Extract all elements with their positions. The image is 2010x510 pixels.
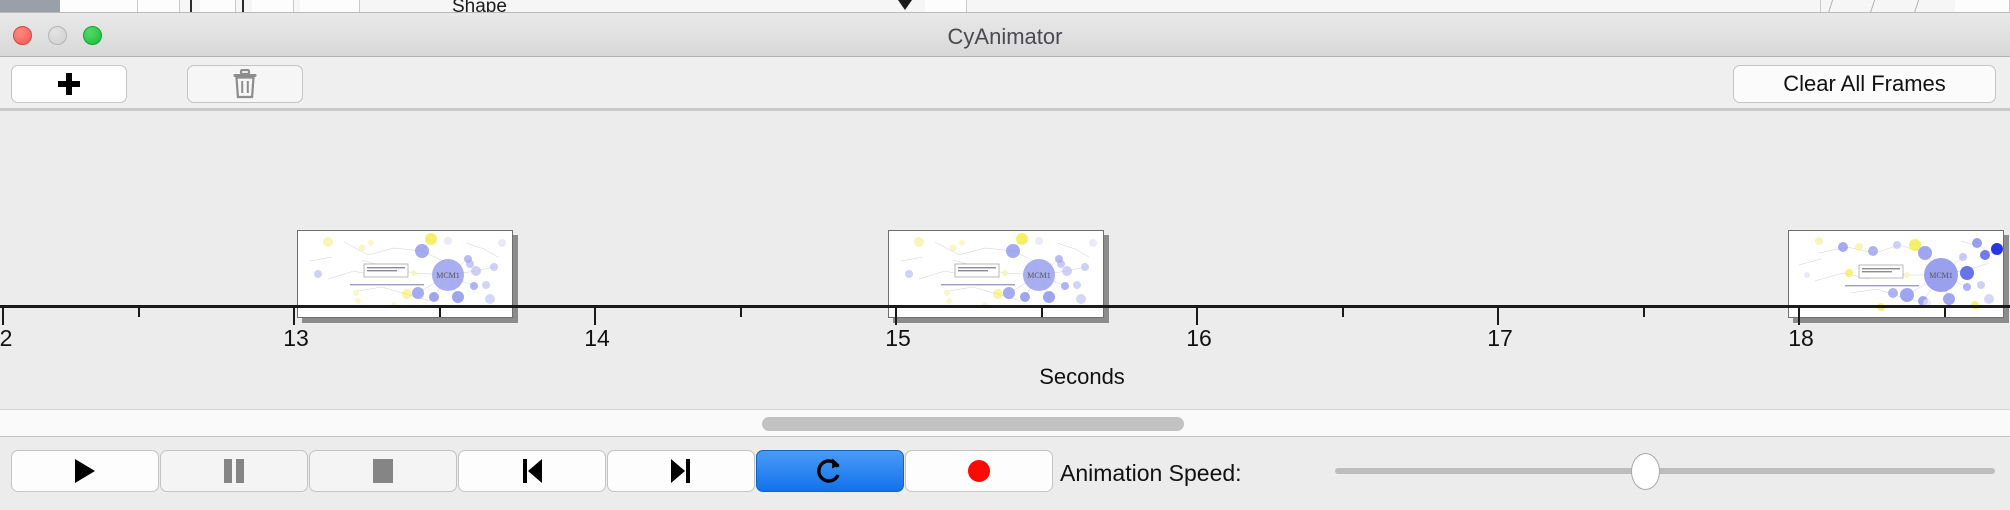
skip-to-start-button[interactable] <box>458 450 606 492</box>
axis-tick-minor <box>439 308 441 317</box>
axis-tick-label: 14 <box>584 325 610 352</box>
bg-segment <box>200 0 236 13</box>
axis-tick-minor <box>1944 308 1946 317</box>
loop-button[interactable] <box>756 450 904 492</box>
axis-tick-major <box>1196 308 1198 325</box>
axis-title-text: Seconds <box>1039 364 1125 389</box>
stop-button[interactable] <box>309 450 457 492</box>
axis-tick-label: 18 <box>1788 325 1814 352</box>
axis-tick-minor <box>1041 308 1043 317</box>
bg-segment <box>60 0 138 13</box>
transport-bar: Animation Speed: <box>0 438 2010 510</box>
bg-slash <box>1828 0 1833 13</box>
axis-tick-major <box>2 308 4 325</box>
skip-to-end-button[interactable] <box>607 450 755 492</box>
bg-segment <box>925 0 967 13</box>
bg-segment <box>300 0 360 13</box>
axis-tick-label: 13 <box>283 325 309 352</box>
axis-tick-label: 17 <box>1487 325 1513 352</box>
bg-slash <box>1914 0 1919 13</box>
axis-title: Seconds <box>0 364 2010 390</box>
bg-segment <box>138 0 180 13</box>
background-window-strip: Shape <box>0 0 2010 13</box>
slider-track[interactable] <box>1335 468 1995 474</box>
bg-slash <box>1870 0 1875 13</box>
pause-icon <box>222 457 246 485</box>
bg-tick <box>242 0 244 13</box>
slider-thumb[interactable] <box>1631 453 1660 490</box>
svg-text:MCM1: MCM1 <box>1027 271 1051 280</box>
record-icon <box>966 458 992 484</box>
axis-tick-minor <box>1643 308 1645 317</box>
record-button[interactable] <box>905 450 1053 492</box>
bg-segment <box>252 0 294 13</box>
animation-speed-label: Animation Speed: <box>1060 460 1242 487</box>
play-button[interactable] <box>11 450 159 492</box>
timeline-scrollbar[interactable] <box>0 410 2010 437</box>
timeline-top-rule <box>0 109 2010 111</box>
window-title: CyAnimator <box>0 24 2010 50</box>
clear-all-frames-button[interactable]: Clear All Frames <box>1733 65 1996 103</box>
timeline-axis <box>0 305 2010 308</box>
toolbar: Clear All Frames <box>0 57 2010 109</box>
add-frame-button[interactable] <box>11 65 127 103</box>
axis-tick-major <box>895 308 897 325</box>
svg-text:MCM1: MCM1 <box>1929 271 1953 280</box>
axis-tick-label: 15 <box>885 325 911 352</box>
play-icon <box>72 457 98 485</box>
animation-speed-slider[interactable] <box>1335 450 1995 492</box>
axis-tick-major <box>293 308 295 325</box>
delete-frame-button[interactable] <box>187 65 303 103</box>
axis-tick-major <box>594 308 596 325</box>
bg-window-title: Shape <box>452 0 507 13</box>
trash-icon <box>232 69 258 99</box>
axis-tick-label: 16 <box>1186 325 1212 352</box>
axis-tick-minor <box>138 308 140 317</box>
axis-tick-minor <box>740 308 742 317</box>
stop-icon <box>371 458 395 484</box>
bg-tick <box>190 0 192 13</box>
plus-icon <box>58 73 80 95</box>
skip-back-icon <box>519 457 545 485</box>
bg-segment <box>1955 0 2010 13</box>
window-titlebar: CyAnimator <box>0 13 2010 57</box>
pause-button[interactable] <box>160 450 308 492</box>
bg-segment <box>0 0 60 13</box>
axis-tick-major <box>1497 308 1499 325</box>
axis-tick-major <box>1798 308 1800 325</box>
bg-segment <box>1820 0 1821 13</box>
loop-icon <box>816 456 844 486</box>
svg-text:MCM1: MCM1 <box>436 271 460 280</box>
axis-tick-minor <box>1342 308 1344 317</box>
bg-wedge <box>898 0 912 10</box>
skip-forward-icon <box>668 457 694 485</box>
axis-tick-label: 2 <box>0 325 12 352</box>
scrollbar-thumb[interactable] <box>762 417 1184 431</box>
timeline-panel[interactable]: MCM1 <box>0 109 2010 410</box>
